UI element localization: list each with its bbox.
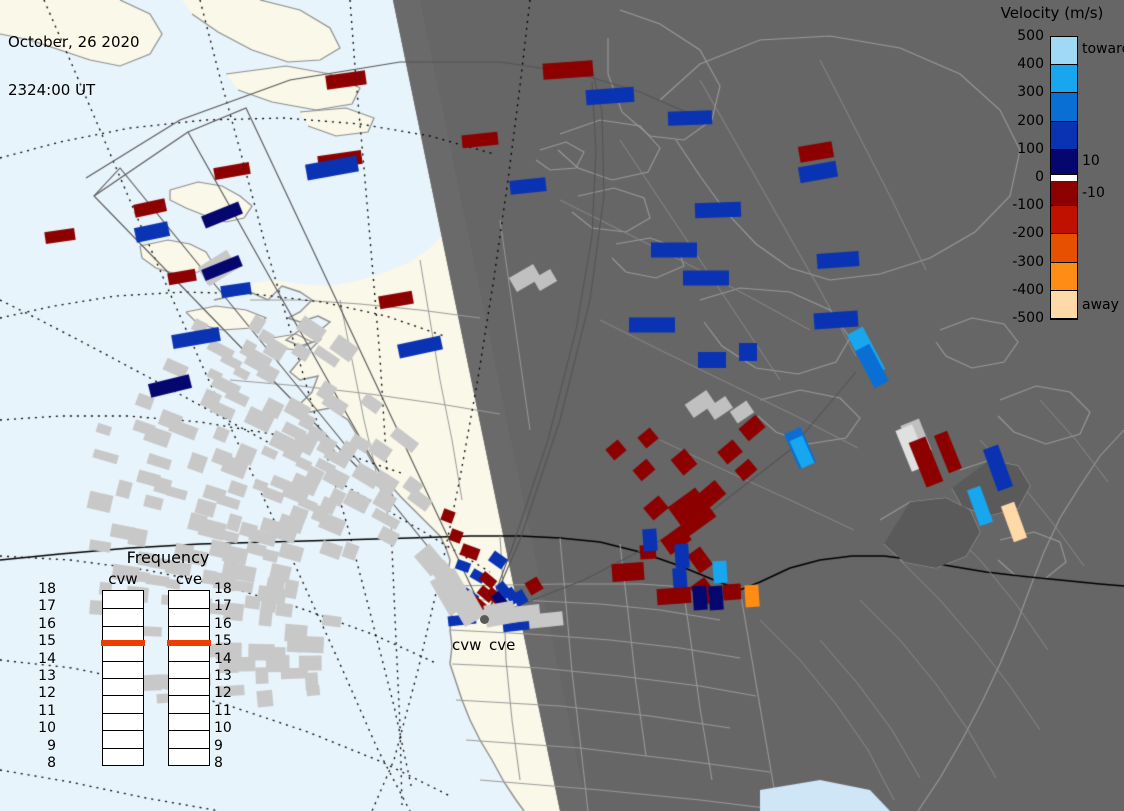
- frequency-gridline: [169, 713, 209, 714]
- frequency-tick-cvw-17: 17: [38, 598, 56, 614]
- frequency-tick-cve-13: 13: [214, 668, 232, 684]
- frequency-gridline: [169, 748, 209, 749]
- colorbar-tick-100: 100: [980, 141, 1044, 157]
- colorbar-tick-200: 200: [980, 113, 1044, 129]
- frequency-tick-cve-8: 8: [214, 755, 223, 771]
- frequency-marker-cvw: [101, 640, 145, 646]
- frequency-tick-cvw-13: 13: [38, 668, 56, 684]
- frequency-tick-cvw-9: 9: [47, 738, 56, 754]
- colorbar-segment--200--300: [1051, 234, 1077, 262]
- colorbar-tick-500: 500: [980, 28, 1044, 44]
- radar-map-screenshot: October, 26 2020 2324:00 UT Velocity (m/…: [0, 0, 1124, 811]
- frequency-gridline: [103, 695, 143, 696]
- frequency-tick-cvw-12: 12: [38, 685, 56, 701]
- frequency-tick-cvw-10: 10: [38, 720, 56, 736]
- frequency-tick-cvw-18: 18: [38, 581, 56, 597]
- colorbar-tick--500: -500: [980, 310, 1044, 326]
- colorbar-segment-200-100: [1051, 122, 1077, 150]
- frequency-tick-cve-14: 14: [214, 651, 232, 667]
- frequency-tick-cvw-14: 14: [38, 651, 56, 667]
- frequency-gridline: [103, 661, 143, 662]
- colorbar-segment--300--400: [1051, 263, 1077, 291]
- frequency-legend: Frequency cvw18171615141312111098cve1817…: [88, 548, 248, 788]
- colorbar-tick-0: 0: [980, 169, 1044, 185]
- radar-site-marker: [480, 615, 489, 624]
- colorbar-segment-500-400: [1051, 37, 1077, 65]
- colorbar-segment--100--200: [1051, 206, 1077, 234]
- colorbar-tick--300: -300: [980, 254, 1044, 270]
- frequency-gridline: [169, 730, 209, 731]
- frequency-gridline: [103, 608, 143, 609]
- frequency-tick-cve-9: 9: [214, 738, 223, 754]
- frequency-gridline: [169, 695, 209, 696]
- frequency-gridline: [169, 661, 209, 662]
- timestamp-time: 2324:00 UT: [8, 82, 140, 98]
- colorbar-inner-negative-label: -10: [1082, 185, 1105, 201]
- frequency-gridline: [103, 678, 143, 679]
- frequency-bar-cvw: [102, 590, 144, 766]
- frequency-tick-cvw-11: 11: [38, 703, 56, 719]
- frequency-gridline: [103, 730, 143, 731]
- velocity-colorbar: [1050, 36, 1078, 320]
- frequency-gridline: [103, 626, 143, 627]
- frequency-gridline: [169, 608, 209, 609]
- velocity-legend-title: Velocity (m/s): [980, 4, 1124, 22]
- timestamp: October, 26 2020 2324:00 UT: [8, 2, 140, 130]
- frequency-bar-cve: [168, 590, 210, 766]
- radar-site-label-cvw: cvw: [452, 636, 481, 654]
- colorbar-segment--400--500: [1051, 291, 1077, 319]
- colorbar-toward-label: toward: [1082, 41, 1124, 57]
- frequency-tick-cvw-8: 8: [47, 755, 56, 771]
- frequency-gridline: [103, 748, 143, 749]
- velocity-legend: Velocity (m/s) 5004003002001000-100-200-…: [980, 0, 1124, 340]
- frequency-tick-cvw-15: 15: [38, 633, 56, 649]
- frequency-marker-cve: [167, 640, 211, 646]
- frequency-gridline: [169, 626, 209, 627]
- timestamp-date: October, 26 2020: [8, 34, 140, 50]
- frequency-column-header-cve: cve: [168, 570, 210, 588]
- frequency-tick-cvw-16: 16: [38, 616, 56, 632]
- colorbar-segment-400-300: [1051, 65, 1077, 93]
- colorbar-segment--10--100: [1051, 181, 1077, 206]
- frequency-tick-cve-16: 16: [214, 616, 232, 632]
- radar-site-label-cve: cve: [489, 636, 515, 654]
- colorbar-tick-300: 300: [980, 84, 1044, 100]
- frequency-tick-cve-12: 12: [214, 685, 232, 701]
- frequency-legend-title: Frequency: [88, 548, 248, 567]
- frequency-tick-cve-17: 17: [214, 598, 232, 614]
- frequency-tick-cve-10: 10: [214, 720, 232, 736]
- frequency-tick-cve-15: 15: [214, 633, 232, 649]
- frequency-gridline: [169, 678, 209, 679]
- colorbar-segment-300-200: [1051, 93, 1077, 121]
- colorbar-tick--100: -100: [980, 197, 1044, 213]
- frequency-tick-cve-11: 11: [214, 703, 232, 719]
- colorbar-tick--200: -200: [980, 225, 1044, 241]
- colorbar-segment-100-10: [1051, 150, 1077, 175]
- frequency-tick-cve-18: 18: [214, 581, 232, 597]
- frequency-gridline: [103, 713, 143, 714]
- colorbar-inner-positive-label: 10: [1082, 153, 1100, 169]
- colorbar-away-label: away: [1082, 297, 1119, 313]
- frequency-column-header-cvw: cvw: [102, 570, 144, 588]
- colorbar-tick-400: 400: [980, 56, 1044, 72]
- colorbar-tick--400: -400: [980, 282, 1044, 298]
